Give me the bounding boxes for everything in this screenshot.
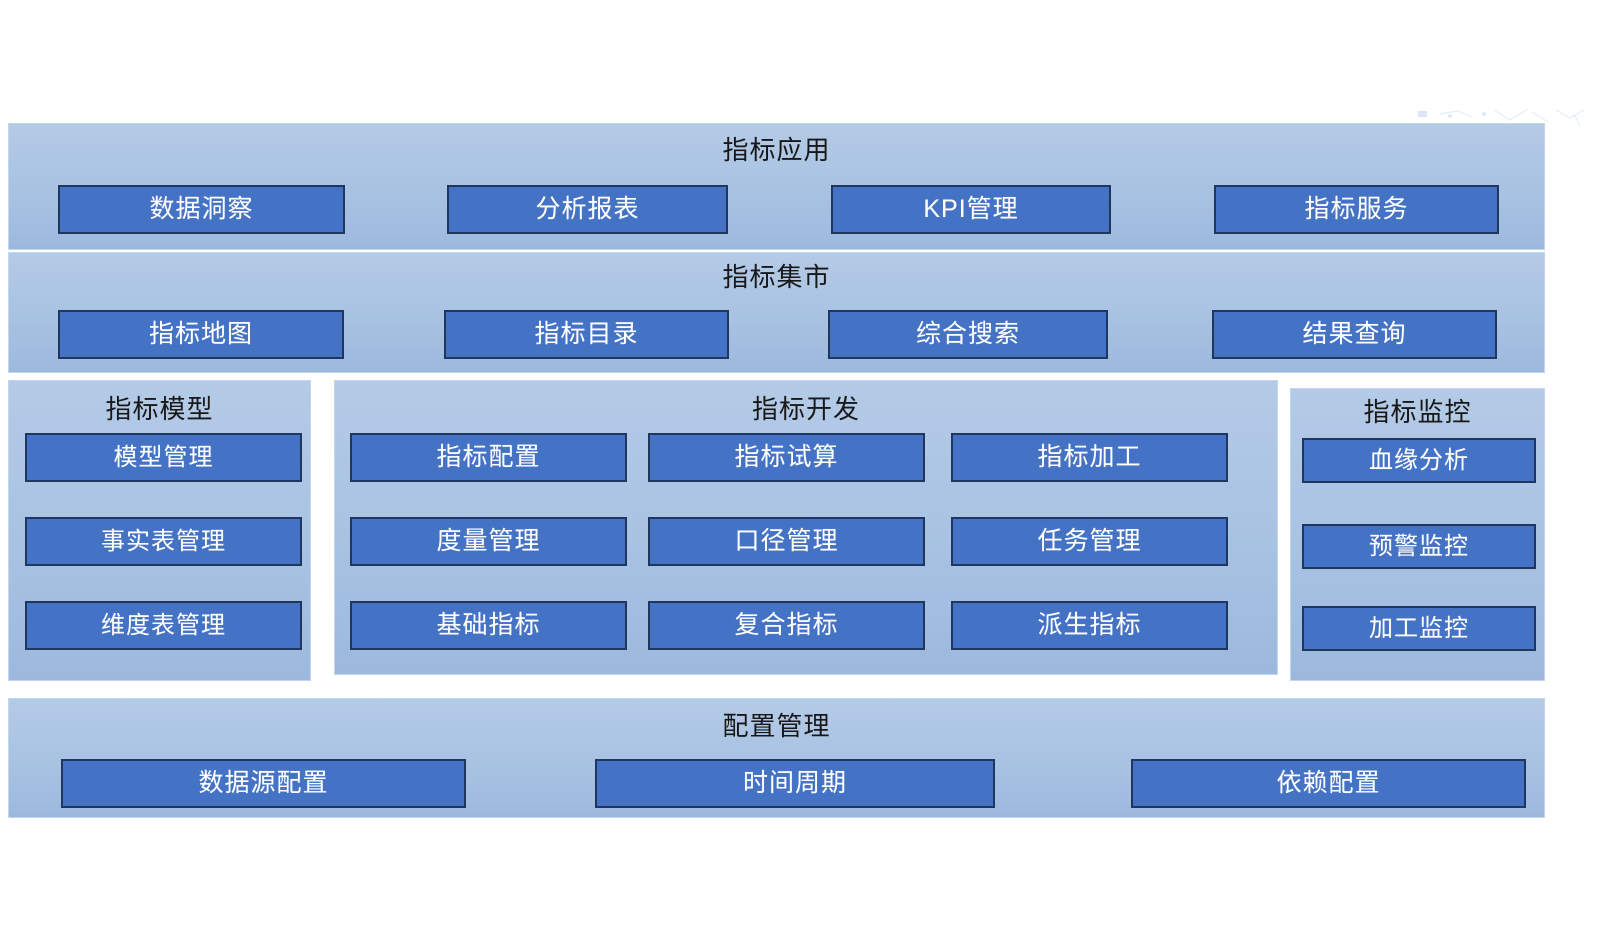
section-indicator-monitoring: 指标监控 血缘分析 预警监控 加工监控: [1290, 388, 1545, 681]
button-processing-monitoring[interactable]: 加工监控: [1302, 606, 1536, 651]
button-task-management[interactable]: 任务管理: [951, 517, 1228, 566]
button-indicator-processing[interactable]: 指标加工: [951, 433, 1228, 482]
button-time-period[interactable]: 时间周期: [595, 759, 995, 808]
button-datasource-configuration[interactable]: 数据源配置: [61, 759, 466, 808]
button-dimension-table-management[interactable]: 维度表管理: [25, 601, 302, 650]
button-model-management[interactable]: 模型管理: [25, 433, 302, 482]
section-indicator-model: 指标模型 模型管理 事实表管理 维度表管理: [8, 380, 311, 681]
section-title-configuration-management: 配置管理: [9, 711, 1544, 741]
button-indicator-configuration[interactable]: 指标配置: [350, 433, 627, 482]
button-indicator-service[interactable]: 指标服务: [1214, 185, 1499, 234]
button-lineage-analysis[interactable]: 血缘分析: [1302, 438, 1536, 483]
architecture-diagram: 指标应用 数据洞察 分析报表 KPI管理 指标服务 指标集市 指标地图 指标目录…: [0, 0, 1608, 940]
button-dependency-configuration[interactable]: 依赖配置: [1131, 759, 1526, 808]
button-fact-table-management[interactable]: 事实表管理: [25, 517, 302, 566]
button-indicator-map[interactable]: 指标地图: [58, 310, 344, 359]
section-indicator-development: 指标开发 指标配置 指标试算 指标加工 度量管理 口径管理 任务管理 基础指标 …: [334, 380, 1278, 675]
section-title-indicator-application: 指标应用: [9, 135, 1544, 165]
button-result-query[interactable]: 结果查询: [1212, 310, 1497, 359]
button-indicator-catalog[interactable]: 指标目录: [444, 310, 729, 359]
button-analysis-report[interactable]: 分析报表: [447, 185, 728, 234]
section-configuration-management: 配置管理 数据源配置 时间周期 依赖配置: [8, 698, 1545, 818]
section-title-indicator-model: 指标模型: [9, 394, 310, 424]
section-title-indicator-market: 指标集市: [9, 262, 1544, 292]
button-indicator-trial-calculation[interactable]: 指标试算: [648, 433, 925, 482]
section-indicator-application: 指标应用 数据洞察 分析报表 KPI管理 指标服务: [8, 123, 1545, 250]
button-derived-indicator[interactable]: 派生指标: [951, 601, 1228, 650]
button-data-insight[interactable]: 数据洞察: [58, 185, 345, 234]
button-measure-management[interactable]: 度量管理: [350, 517, 627, 566]
section-title-indicator-monitoring: 指标监控: [1291, 397, 1544, 427]
button-composite-indicator[interactable]: 复合指标: [648, 601, 925, 650]
button-kpi-management[interactable]: KPI管理: [831, 185, 1111, 234]
button-alert-monitoring[interactable]: 预警监控: [1302, 524, 1536, 569]
button-caliber-management[interactable]: 口径管理: [648, 517, 925, 566]
button-comprehensive-search[interactable]: 综合搜索: [828, 310, 1108, 359]
section-title-indicator-development: 指标开发: [335, 394, 1277, 424]
button-basic-indicator[interactable]: 基础指标: [350, 601, 627, 650]
section-indicator-market: 指标集市 指标地图 指标目录 综合搜索 结果查询: [8, 252, 1545, 373]
